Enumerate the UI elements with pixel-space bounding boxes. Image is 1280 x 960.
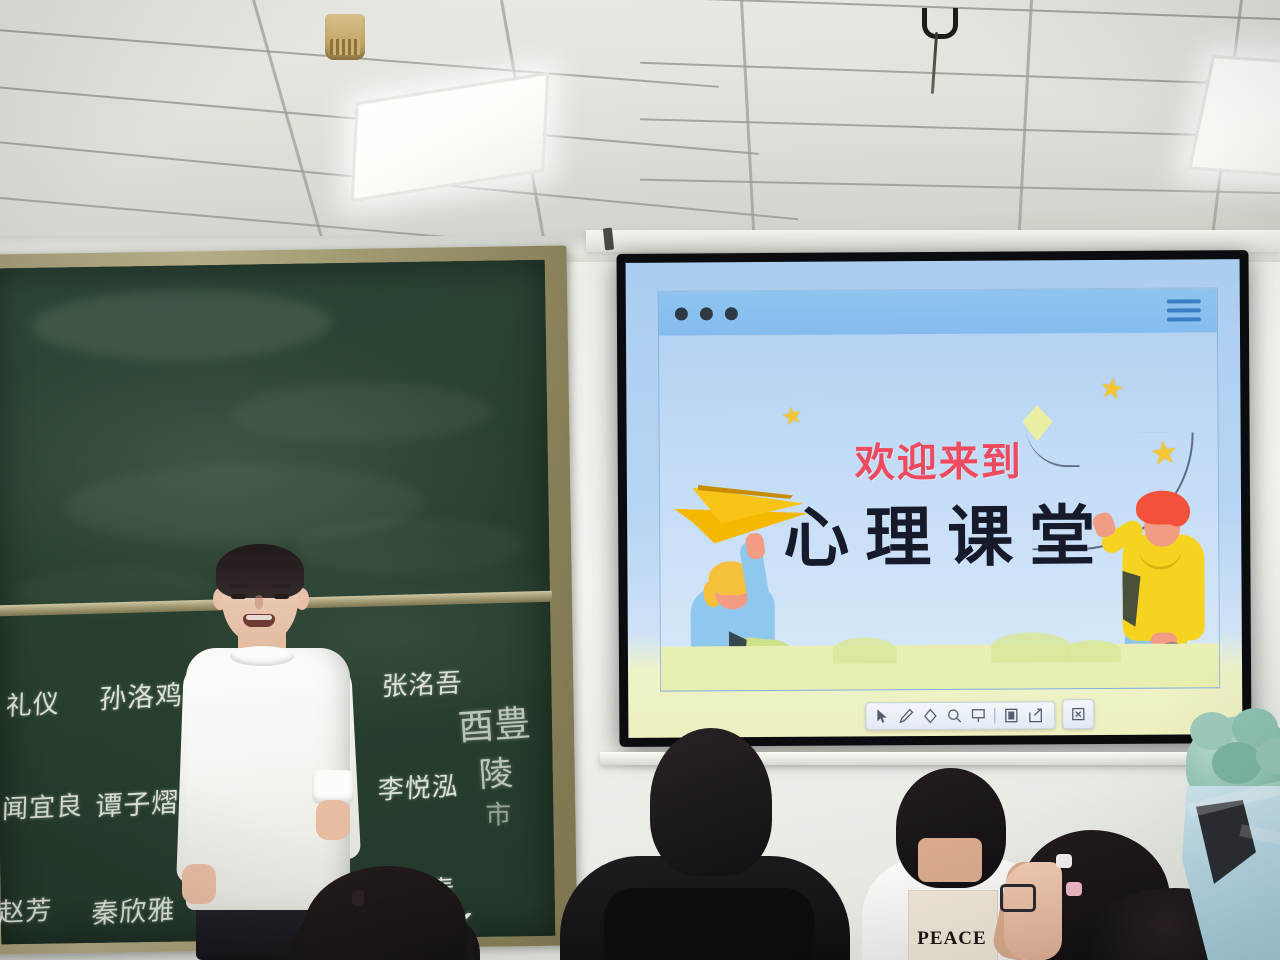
slide-bush-1 bbox=[833, 637, 897, 663]
teacher-nose bbox=[255, 595, 263, 609]
magnifier-icon[interactable] bbox=[946, 708, 962, 724]
light-panel-right bbox=[1188, 55, 1280, 181]
window-dot-1 bbox=[675, 307, 688, 320]
slide-mock-window: ★ ★ ★ 欢迎来到 心理课堂 bbox=[658, 287, 1220, 691]
window-dots bbox=[675, 307, 738, 320]
star-top-right-icon: ★ bbox=[1097, 373, 1126, 405]
teacher-hand-right bbox=[316, 800, 350, 840]
teacher-eye-left bbox=[231, 594, 246, 599]
window-dot-2 bbox=[700, 307, 713, 320]
window-dot-3 bbox=[725, 307, 738, 320]
share-icon[interactable] bbox=[1027, 707, 1043, 723]
spotlight-icon[interactable] bbox=[970, 708, 986, 724]
annotation-toolbar-detached[interactable] bbox=[1062, 699, 1094, 729]
chalk-column-1: 礼仪 闻宜良 赵芳 汪超 安琪 评诞 吴燕燕 bbox=[0, 617, 90, 960]
pen-icon[interactable] bbox=[898, 708, 914, 724]
classroom-photo: 礼仪 闻宜良 赵芳 汪超 安琪 评诞 吴燕燕 孙洛鸡 谭子熠 秦欣雅 高智坤 蔡… bbox=[0, 0, 1280, 960]
slide-grass-band bbox=[661, 643, 1219, 690]
hairclip-white bbox=[1056, 854, 1072, 868]
ceiling-hook-icon bbox=[922, 8, 958, 39]
close-icon[interactable] bbox=[1070, 706, 1086, 722]
slide-bush-2 bbox=[991, 632, 1071, 662]
mock-window-titlebar bbox=[659, 288, 1217, 335]
chalk-large-text-3: 市 bbox=[485, 794, 512, 831]
rail bbox=[586, 230, 1280, 252]
teacher-hair bbox=[216, 544, 304, 598]
slide-bush-3 bbox=[1065, 640, 1121, 662]
chalk-large-text-1: 酉豊 bbox=[456, 694, 531, 751]
star-small-left-icon: ★ bbox=[779, 403, 805, 431]
toolbar-divider bbox=[994, 708, 995, 724]
teacher-hand-left bbox=[182, 864, 216, 904]
glasses-icon bbox=[1000, 884, 1036, 912]
chalk-large-text-2: 陵 bbox=[477, 746, 514, 797]
ceiling-hook-wire bbox=[931, 32, 938, 94]
hairclip-pink bbox=[1066, 882, 1082, 896]
smart-display[interactable]: ★ ★ ★ 欢迎来到 心理课堂 bbox=[617, 250, 1252, 747]
slide-body: ★ ★ ★ 欢迎来到 心理课堂 bbox=[659, 332, 1219, 690]
page-icon[interactable] bbox=[1003, 707, 1019, 723]
light-panel-left bbox=[351, 72, 550, 203]
cursor-icon[interactable] bbox=[874, 708, 890, 724]
ceiling bbox=[0, 0, 1280, 268]
teacher-eye-right bbox=[274, 594, 289, 599]
teacher-collar bbox=[230, 646, 294, 666]
smoke-detector-icon bbox=[325, 14, 365, 60]
student-front-left-hairclip bbox=[352, 890, 364, 906]
eraser-icon[interactable] bbox=[922, 708, 938, 724]
display-surface: ★ ★ ★ 欢迎来到 心理课堂 bbox=[626, 259, 1243, 738]
peace-shirt-text: PEACE bbox=[908, 928, 996, 950]
annotation-toolbar[interactable] bbox=[865, 701, 1055, 730]
figure-right-hair-back bbox=[1164, 496, 1190, 526]
student-backpack-head bbox=[650, 728, 772, 876]
backpack bbox=[604, 888, 814, 960]
bouquet-puff-3 bbox=[1212, 742, 1262, 784]
teacher-cuff bbox=[312, 770, 354, 804]
hamburger-menu-icon[interactable] bbox=[1167, 299, 1201, 321]
teacher-teeth bbox=[246, 615, 272, 620]
student-peace-shirt-neck bbox=[918, 838, 982, 882]
